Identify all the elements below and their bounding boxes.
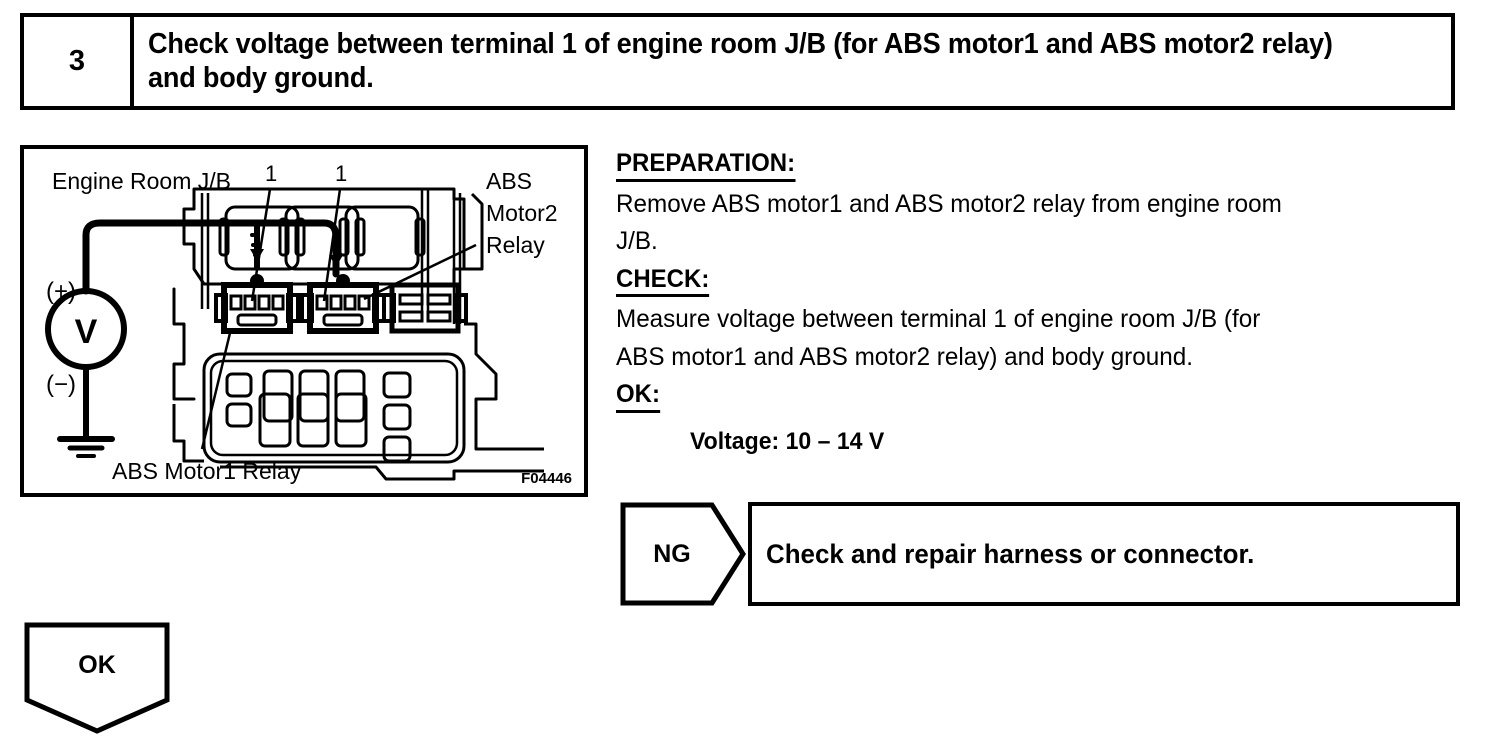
engine-room-jb-label: Engine Room J/B (52, 168, 231, 194)
check-body-line-1: Measure voltage between terminal 1 of en… (616, 302, 1470, 338)
preparation-heading: PREPARATION: (616, 150, 795, 182)
check-section: CHECK: Measure voltage between terminal … (616, 266, 1468, 376)
ground-symbol (60, 439, 112, 456)
relay-socket-motor2 (302, 274, 384, 331)
engine-room-jb-illustration: V (+) (−) Engine Room J/B (24, 149, 584, 493)
probe-arrow-left (250, 249, 264, 261)
step-instruction-cell: Check voltage between terminal 1 of engi… (134, 17, 1451, 106)
preparation-body-line-2: J/B. (616, 224, 1470, 260)
service-manual-page: 3 Check voltage between terminal 1 of en… (0, 0, 1504, 744)
relay-sockets (216, 274, 466, 331)
terminal-callout-left: 1 (265, 161, 277, 186)
step-header-box: 3 Check voltage between terminal 1 of en… (20, 13, 1455, 110)
instruction-column: PREPARATION: Remove ABS motor1 and ABS m… (616, 150, 1468, 456)
ok-voltage-value: Voltage: 10 – 14 V (690, 428, 1437, 456)
step-number: 3 (69, 47, 85, 76)
fuse-block (204, 354, 464, 462)
ng-label: NG (620, 502, 724, 606)
positive-lead-label: (+) (46, 278, 76, 305)
figure-code: F04446 (521, 470, 572, 487)
negative-lead-label: (−) (46, 371, 76, 398)
relay-socket-motor1 (216, 274, 298, 331)
check-heading: CHECK: (616, 266, 709, 298)
fuse-slots (227, 371, 410, 461)
preparation-section: PREPARATION: Remove ABS motor1 and ABS m… (616, 150, 1468, 260)
abs-motor2-relay-label-line2: Motor2 (486, 200, 558, 226)
ng-action-box: Check and repair harness or connector. (748, 502, 1460, 606)
ok-label: OK (24, 622, 170, 708)
figure-frame: V (+) (−) Engine Room J/B (20, 145, 588, 497)
terminal-callout-right: 1 (335, 161, 347, 186)
voltmeter-symbol-label: V (75, 313, 98, 351)
ok-branch-banner: OK (24, 622, 170, 734)
abs-motor2-relay-label-line3: Relay (486, 232, 545, 258)
step-number-cell: 3 (24, 17, 134, 106)
preparation-body-line-1: Remove ABS motor1 and ABS motor2 relay f… (616, 187, 1470, 223)
ng-branch-row: NG Check and repair harness or connector… (620, 502, 1460, 606)
ng-action-text: Check and repair harness or connector. (766, 539, 1254, 570)
check-body-line-2: ABS motor1 and ABS motor2 relay) and bod… (616, 340, 1470, 376)
abs-motor2-relay-label-line1: ABS (486, 168, 532, 194)
ok-criteria-section: OK: Voltage: 10 – 14 V (616, 381, 1468, 456)
relay-bodies (220, 207, 424, 269)
abs-motor1-relay-label: ABS Motor1 Relay (112, 458, 302, 484)
ok-heading: OK: (616, 381, 660, 413)
step-instruction-text: Check voltage between terminal 1 of engi… (148, 28, 1374, 95)
